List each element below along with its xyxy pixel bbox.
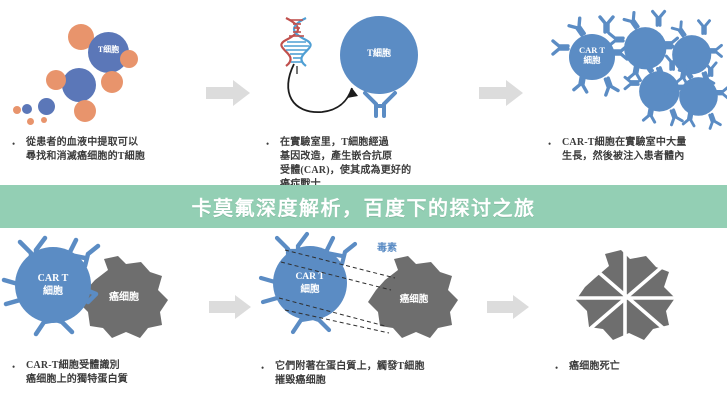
svg-text:CAR T: CAR T <box>38 273 69 284</box>
caption-bullet: • <box>261 361 264 375</box>
orange-cell-small <box>27 118 34 125</box>
arrow-2-icon <box>479 80 523 106</box>
arrow-3-icon <box>209 295 251 319</box>
panel-5-caption: 它們附著在蛋白質上，觸發T細胞 摧毀癌细胞 <box>275 360 480 388</box>
toxin-label: 毒素 <box>377 241 397 254</box>
car-t-binds-cancer-art: 癌细胞 <box>0 228 205 353</box>
cancer-cell-label: 癌细胞 <box>400 293 429 305</box>
panel-extract-t-cells: T细胞 • 從患者的血液中提取可以 尋找和消滅癌细胞的T細胞 <box>0 0 200 185</box>
panel-4-caption: CAR-T細胞受體識別 癌细胞上的獨特蛋白質 <box>26 359 201 387</box>
orange-cell-small <box>41 117 47 123</box>
panel-gene-engineering: T細胞 • 在實驗室里，T細胞經過 基因改造，產生嵌合抗原 受體(CAR)，使其… <box>258 0 473 185</box>
t-cell-engineered <box>340 16 418 94</box>
t-cell-small <box>38 98 55 115</box>
caption-bullet: • <box>12 360 15 374</box>
caption-bullet: • <box>548 137 551 151</box>
panel-toxin-release: 癌细胞 CAR T 細胞 <box>255 228 480 400</box>
orange-cell <box>46 70 66 90</box>
caption-bullet: • <box>266 137 269 151</box>
t-cells-cluster-art: T细胞 <box>0 0 200 125</box>
cancer-cell-label: 癌细胞 <box>109 290 139 303</box>
t-cell <box>62 68 96 102</box>
title-banner: 卡莫氟深度解析，百度下的探讨之旅 <box>0 185 727 228</box>
banner-title-text: 卡莫氟深度解析，百度下的探讨之旅 <box>192 192 536 221</box>
t-cell-small <box>22 104 32 114</box>
caption-bullet: • <box>555 361 558 375</box>
panel-2-caption: 在實驗室里，T細胞經過 基因改造，產生嵌合抗原 受體(CAR)，使其成為更好的 … <box>280 136 475 192</box>
arrow-1-icon <box>206 80 250 106</box>
arrow-4-icon <box>487 295 529 319</box>
orange-cell <box>74 100 96 122</box>
car-receptor-icon <box>362 90 398 118</box>
svg-text:CAR T: CAR T <box>579 45 605 55</box>
car-t-cell-labeled: CAR T 細胞 <box>553 17 627 95</box>
panel-1-caption: 從患者的血液中提取可以 尋找和消滅癌细胞的T細胞 <box>26 136 196 164</box>
diagram-canvas: T细胞 • 從患者的血液中提取可以 尋找和消滅癌细胞的T細胞 <box>0 0 727 400</box>
svg-text:細胞: 細胞 <box>583 55 601 65</box>
car-t-multiplied-art: CAR T 細胞 <box>530 0 727 130</box>
panel-receptor-recognition: 癌细胞 <box>0 228 205 400</box>
car-t-cell-attacking <box>261 234 355 332</box>
panel-6-caption: 癌细胞死亡 <box>569 360 719 374</box>
cancer-cell-destroyed-art <box>533 228 727 356</box>
caption-bullet: • <box>12 137 15 151</box>
dna-engineering-art: T細胞 <box>258 0 473 130</box>
car-t-releases-toxins-art: 癌细胞 CAR T 細胞 <box>255 228 480 356</box>
dna-helix-icon <box>280 16 314 68</box>
orange-cell-small <box>13 106 21 114</box>
panel-3-caption: CAR-T細胞在實驗室中大量 生長，然後被注入患者體內 <box>562 136 727 164</box>
svg-text:細胞: 細胞 <box>300 283 320 295</box>
panel-car-t-expansion: CAR T 細胞 <box>530 0 727 185</box>
orange-cell <box>101 71 123 93</box>
svg-text:細胞: 細胞 <box>43 284 63 297</box>
shattered-cancer-cell <box>576 250 675 340</box>
panel-cancer-cell-death: • 癌细胞死亡 <box>533 228 727 400</box>
orange-cell <box>120 50 138 68</box>
svg-text:CAR T: CAR T <box>295 272 325 282</box>
